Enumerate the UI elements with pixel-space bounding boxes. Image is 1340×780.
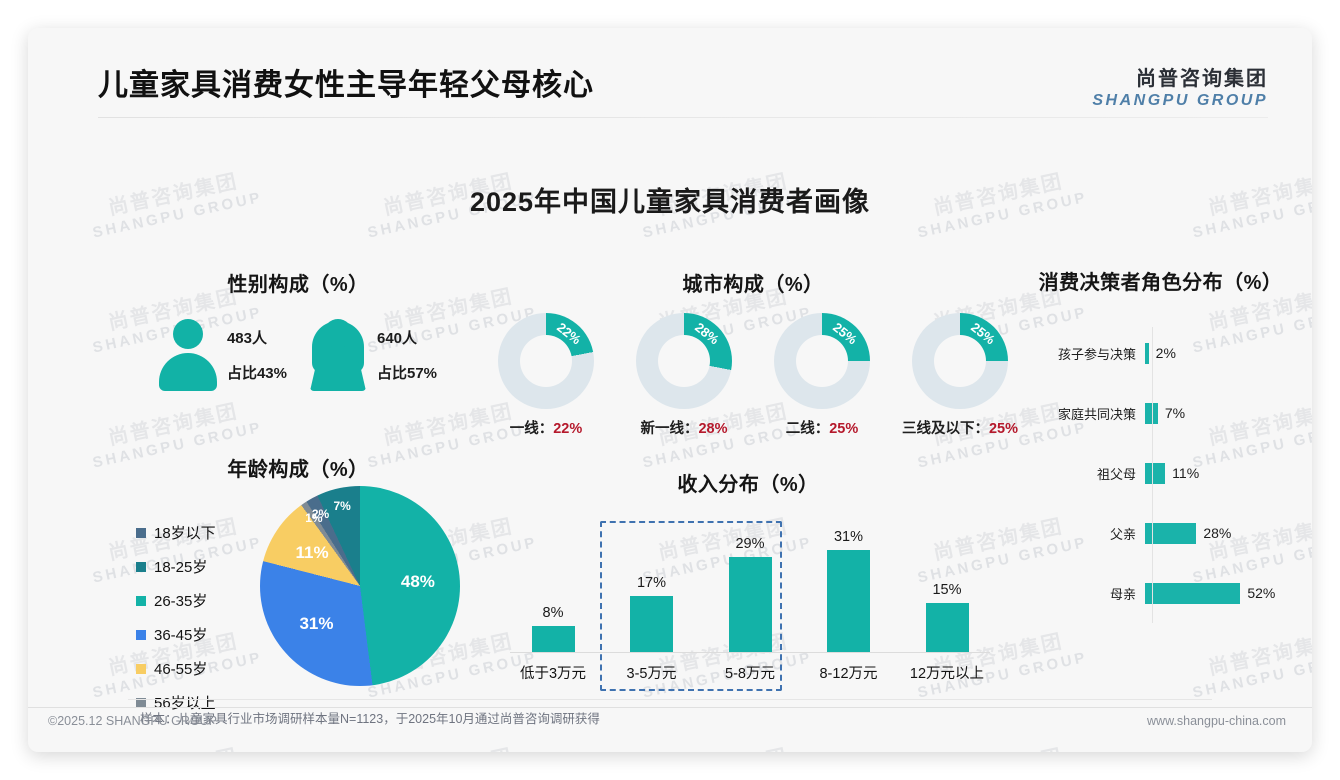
city-donut-value: 25% — [968, 320, 998, 348]
age-legend-label: 46-55岁 — [154, 658, 207, 679]
footer-copyright: ©2025.12 SHANGPU GROUP — [48, 714, 217, 728]
age-legend: 18岁以下18-25岁26-35岁36-45岁46-55岁56岁以上 — [136, 522, 216, 713]
city-donut-percent: 25% — [989, 421, 1018, 437]
city-donut-item: 22%一线：22% — [483, 313, 609, 438]
income-bar-value: 15% — [932, 582, 961, 598]
income-bar — [827, 550, 870, 652]
note-divider — [128, 699, 1212, 700]
income-bar — [630, 596, 673, 652]
income-baseline — [510, 652, 990, 653]
income-bar — [729, 557, 772, 652]
age-pie-label: 31% — [299, 614, 333, 634]
role-title: 消费决策者角色分布（%） — [1028, 266, 1293, 295]
age-pie-label: 48% — [401, 572, 435, 592]
city-donut-item: 25%三线及以下：25% — [897, 313, 1023, 438]
age-legend-label: 36-45岁 — [154, 624, 207, 645]
role-value: 52% — [1247, 585, 1275, 601]
role-value: 7% — [1165, 405, 1185, 421]
income-bar-column: 15% — [904, 582, 990, 652]
city-donut-label: 新一线：28% — [621, 417, 747, 438]
city-title: 城市构成（%） — [483, 268, 1023, 297]
role-bar — [1145, 463, 1165, 484]
role-label: 祖父母 — [1028, 464, 1144, 483]
income-bar-value: 17% — [637, 575, 666, 591]
slide-header: 儿童家具消费女性主导年轻父母核心 尚普咨询集团 SHANGPU GROUP — [28, 28, 1312, 118]
income-category-label: 低于3万元 — [510, 662, 596, 683]
gender-items: 483人 占比43% 640人 占比57% — [118, 319, 478, 391]
slide-card: 尚普咨询集团SHANGPU GROUP尚普咨询集团SHANGPU GROUP尚普… — [28, 28, 1312, 752]
age-pie-chart: 48%31%11%1%2%7% — [260, 486, 460, 686]
role-bar-row: 祖父母11% — [1028, 443, 1293, 503]
city-donut-row: 22%一线：22%28%新一线：28%25%二线：25%25%三线及以下：25% — [483, 313, 1023, 438]
footer-website[interactable]: www.shangpu-china.com — [1147, 714, 1286, 728]
city-donut-percent: 25% — [829, 421, 858, 437]
age-pie-label: 11% — [295, 543, 328, 563]
age-legend-label: 26-35岁 — [154, 590, 207, 611]
role-label: 父亲 — [1028, 524, 1144, 543]
role-label: 孩子参与决策 — [1028, 344, 1144, 363]
age-pie-slices: 48%31%11%1%2%7% — [260, 486, 460, 686]
role-axis-line — [1152, 327, 1153, 623]
income-bar-column: 17% — [609, 575, 695, 652]
age-pie-label: 2% — [312, 507, 329, 521]
city-donut-item: 28%新一线：28% — [621, 313, 747, 438]
male-count: 483人 — [227, 327, 287, 348]
income-bar-value: 29% — [735, 536, 764, 552]
income-bar-value: 31% — [834, 529, 863, 545]
legend-swatch-icon — [136, 664, 146, 674]
income-panel: 收入分布（%） 8%17%29%31%15% 低于3万元3-5万元5-8万元8-… — [498, 468, 998, 695]
age-panel: 年龄构成（%） 18岁以下18-25岁26-35岁36-45岁46-55岁56岁… — [108, 453, 488, 696]
city-donut-chart: 22% — [498, 313, 594, 409]
male-share: 占比43% — [227, 362, 287, 383]
footer-divider — [28, 707, 1312, 708]
legend-swatch-icon — [136, 528, 146, 538]
gender-item-female: 640人 占比57% — [309, 319, 437, 391]
main-chart-title: 2025年中国儿童家具消费者画像 — [28, 180, 1312, 219]
age-legend-item[interactable]: 36-45岁 — [136, 624, 216, 645]
role-value: 2% — [1156, 345, 1176, 361]
city-donut-label: 三线及以下：25% — [897, 417, 1023, 438]
age-legend-item[interactable]: 46-55岁 — [136, 658, 216, 679]
income-bar-column: 29% — [707, 536, 793, 652]
role-bar-row: 家庭共同决策7% — [1028, 383, 1293, 443]
role-bar-row: 孩子参与决策2% — [1028, 323, 1293, 383]
age-legend-item[interactable]: 18-25岁 — [136, 556, 216, 577]
logo-chinese-text: 尚普咨询集团 — [1092, 62, 1268, 91]
role-value: 28% — [1203, 525, 1231, 541]
watermark-text: 尚普咨询集团SHANGPU GROUP — [1185, 620, 1312, 701]
legend-swatch-icon — [136, 630, 146, 640]
female-count: 640人 — [377, 327, 437, 348]
city-donut-chart: 25% — [912, 313, 1008, 409]
role-chart: 孩子参与决策2%家庭共同决策7%祖父母11%父亲28%母亲52% — [1028, 323, 1293, 623]
role-bar-row: 母亲52% — [1028, 563, 1293, 623]
slide-footer: ©2025.12 SHANGPU GROUP www.shangpu-china… — [28, 710, 1312, 738]
income-bar-column: 8% — [510, 605, 596, 652]
city-donut-chart: 25% — [774, 313, 870, 409]
legend-swatch-icon — [136, 562, 146, 572]
income-category-label: 12万元以上 — [904, 662, 990, 683]
role-panel: 消费决策者角色分布（%） 孩子参与决策2%家庭共同决策7%祖父母11%父亲28%… — [1028, 266, 1293, 623]
role-value: 11% — [1172, 465, 1199, 481]
role-label: 家庭共同决策 — [1028, 404, 1144, 423]
age-legend-label: 18岁以下 — [154, 522, 216, 543]
income-category-label: 5-8万元 — [707, 662, 793, 683]
female-person-icon — [309, 319, 367, 391]
income-title: 收入分布（%） — [498, 468, 998, 497]
role-bar — [1145, 583, 1240, 604]
gender-panel: 性别构成（%） 483人 占比43% 640人 占比57% — [118, 268, 478, 391]
city-donut-percent: 22% — [553, 421, 582, 437]
age-legend-label: 18-25岁 — [154, 556, 207, 577]
age-legend-item[interactable]: 26-35岁 — [136, 590, 216, 611]
income-category-label: 3-5万元 — [609, 662, 695, 683]
city-donut-percent: 28% — [698, 421, 727, 437]
income-chart: 8%17%29%31%15% 低于3万元3-5万元5-8万元8-12万元12万元… — [498, 515, 998, 695]
income-bar — [926, 603, 969, 652]
role-bar — [1145, 343, 1149, 364]
age-pie-label: 7% — [333, 499, 350, 513]
role-bar-row: 父亲28% — [1028, 503, 1293, 563]
city-donut-value: 22% — [554, 320, 584, 348]
city-donut-label: 二线：25% — [759, 417, 885, 438]
age-title: 年龄构成（%） — [108, 453, 488, 482]
male-person-icon — [159, 319, 217, 391]
role-label: 母亲 — [1028, 584, 1144, 603]
income-bar — [532, 626, 575, 652]
city-donut-value: 28% — [692, 320, 722, 348]
income-bar-column: 31% — [806, 529, 892, 652]
city-donut-item: 25%二线：25% — [759, 313, 885, 438]
city-donut-chart: 28% — [636, 313, 732, 409]
page-title: 儿童家具消费女性主导年轻父母核心 — [98, 60, 594, 104]
gender-item-male: 483人 占比43% — [159, 319, 287, 391]
gender-title: 性别构成（%） — [118, 268, 478, 297]
city-panel: 城市构成（%） 22%一线：22%28%新一线：28%25%二线：25%25%三… — [483, 268, 1023, 438]
city-donut-value: 25% — [830, 320, 860, 348]
brand-logo: 尚普咨询集团 SHANGPU GROUP — [1092, 62, 1268, 110]
age-legend-item[interactable]: 18岁以下 — [136, 522, 216, 543]
income-category-label: 8-12万元 — [806, 662, 892, 683]
legend-swatch-icon — [136, 596, 146, 606]
logo-english-text: SHANGPU GROUP — [1092, 92, 1268, 110]
city-donut-label: 一线：22% — [483, 417, 609, 438]
female-share: 占比57% — [377, 362, 437, 383]
income-bar-value: 8% — [543, 605, 564, 621]
header-divider — [98, 117, 1268, 118]
